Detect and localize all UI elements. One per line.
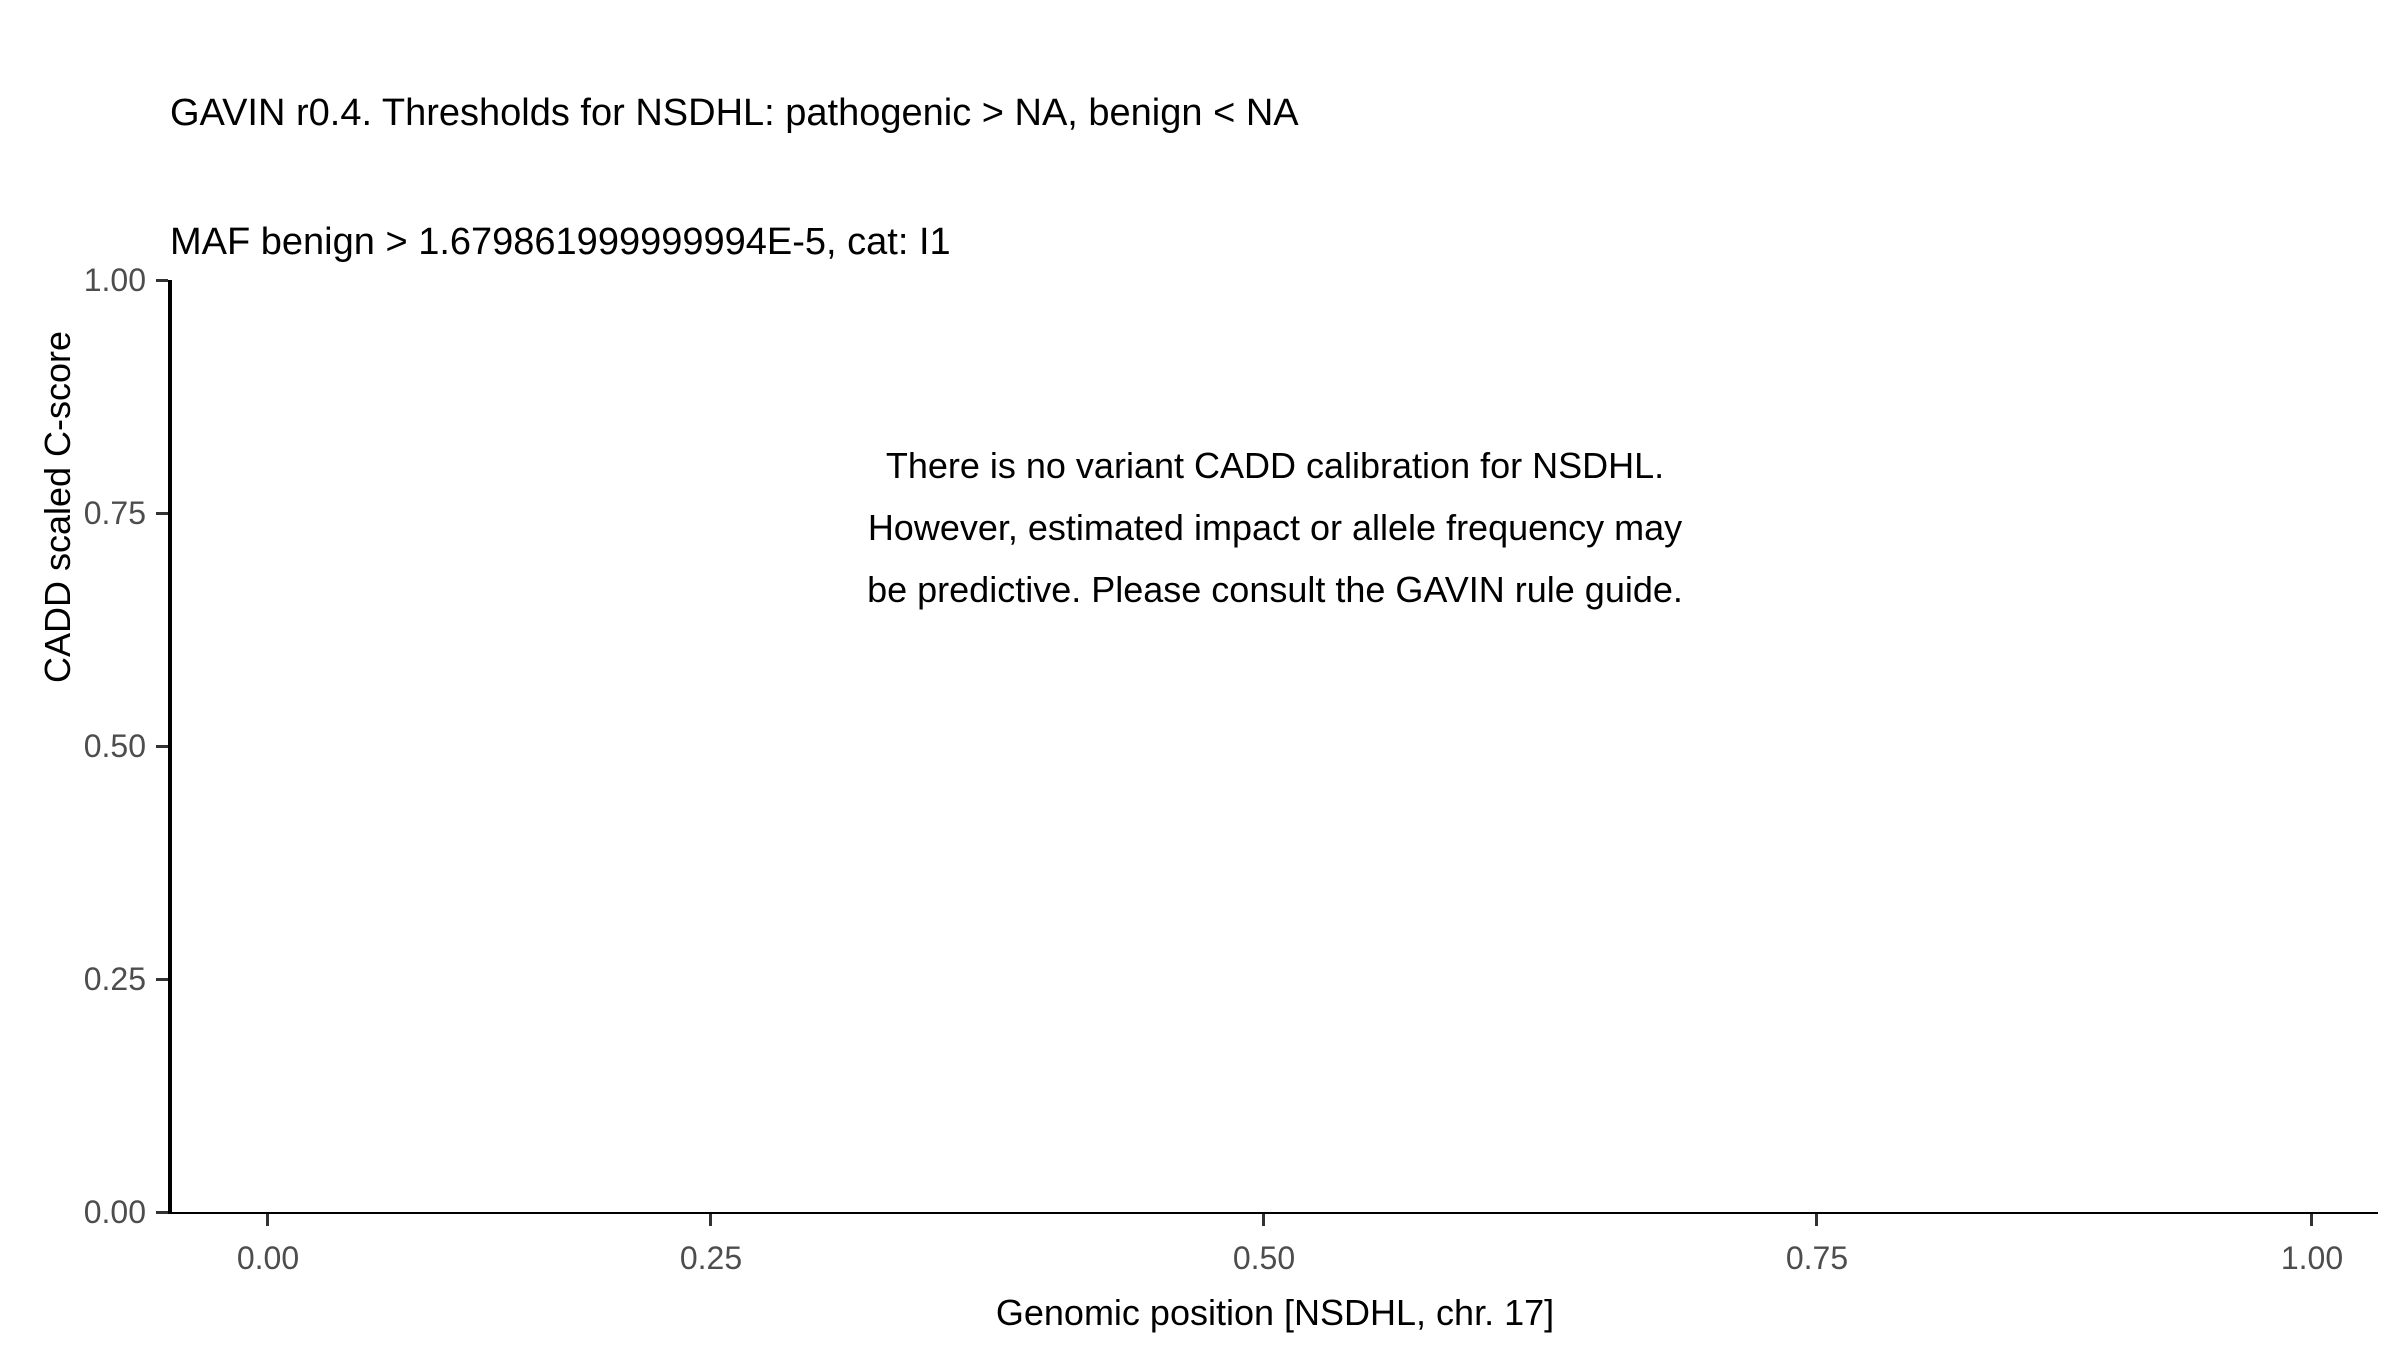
x-tick-label-0: 0.00: [237, 1240, 299, 1277]
x-tick-mark-3: [1815, 1214, 1818, 1226]
x-tick-label-1: 0.25: [680, 1240, 742, 1277]
x-tick-label-4: 1.00: [2281, 1240, 2343, 1277]
y-tick-mark-3: [156, 512, 168, 515]
x-axis-title: Genomic position [NSDHL, chr. 17]: [172, 1292, 2378, 1334]
no-calibration-annotation: There is no variant CADD calibration for…: [172, 435, 2378, 621]
chart-canvas: GAVIN r0.4. Thresholds for NSDHL: pathog…: [0, 0, 2400, 1350]
x-tick-label-2: 0.50: [1233, 1240, 1295, 1277]
y-tick-mark-1: [156, 978, 168, 981]
y-tick-mark-2: [156, 745, 168, 748]
chart-title-line-2: MAF benign > 1.679861999999994E-5, cat: …: [170, 221, 2330, 264]
y-tick-label-0: 0.00: [60, 1194, 146, 1231]
x-tick-label-3: 0.75: [1786, 1240, 1848, 1277]
y-tick-mark-4: [156, 279, 168, 282]
x-tick-mark-0: [266, 1214, 269, 1226]
annotation-line-2: However, estimated impact or allele freq…: [172, 497, 2378, 559]
x-tick-mark-1: [709, 1214, 712, 1226]
x-tick-mark-2: [1262, 1214, 1265, 1226]
y-tick-label-1: 0.25: [60, 961, 146, 998]
annotation-line-3: be predictive. Please consult the GAVIN …: [172, 559, 2378, 621]
annotation-line-1: There is no variant CADD calibration for…: [172, 435, 2378, 497]
chart-title-line-1: GAVIN r0.4. Thresholds for NSDHL: pathog…: [170, 92, 2330, 135]
plot-panel: There is no variant CADD calibration for…: [172, 280, 2378, 1212]
x-tick-mark-4: [2310, 1214, 2313, 1226]
y-tick-mark-0: [156, 1211, 168, 1214]
y-axis-title: CADD scaled C-score: [37, 157, 79, 857]
